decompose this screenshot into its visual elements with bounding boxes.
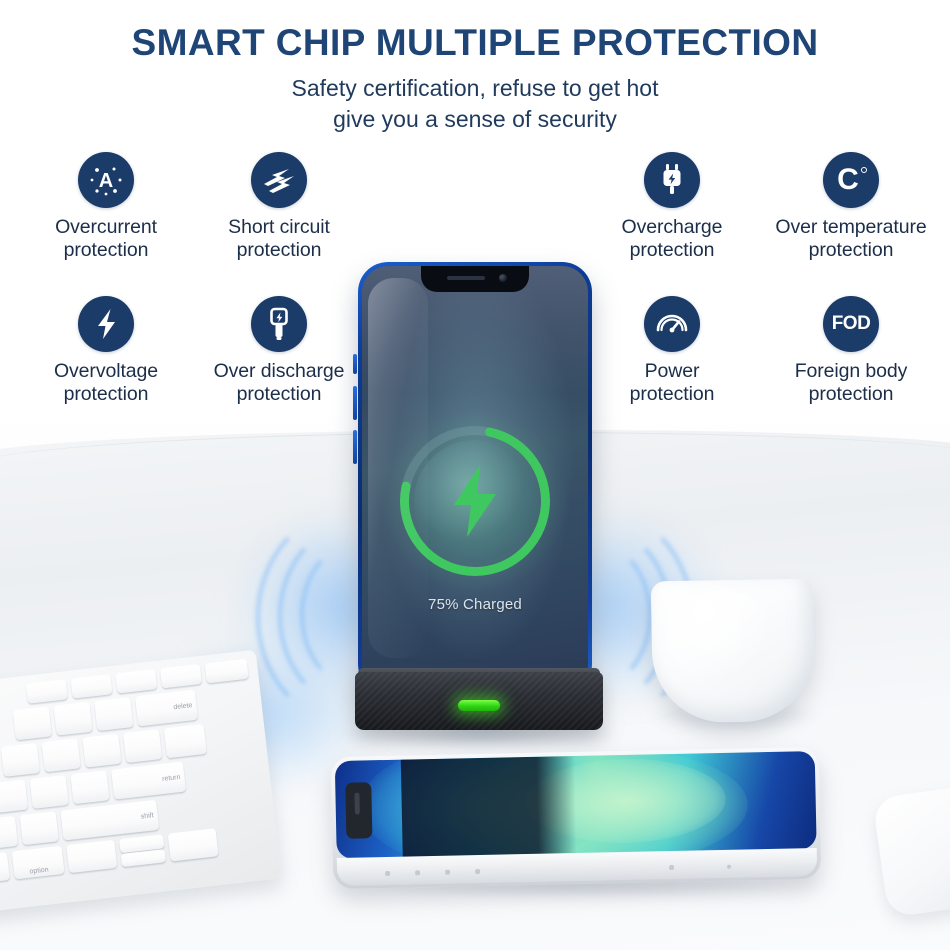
feature-label-line1: Overcharge xyxy=(622,216,723,238)
charging-led-indicator xyxy=(458,700,500,711)
phone-volume-down-button xyxy=(353,430,357,464)
fod-text-icon: FOD xyxy=(823,296,879,352)
flat-phone-screen xyxy=(335,751,817,859)
wireless-mouse xyxy=(651,579,815,724)
speaker-grill-hole xyxy=(385,871,390,876)
battery-bolt-icon xyxy=(251,296,307,352)
feature-label-line2: protection xyxy=(64,383,149,405)
charge-status-text: 75% Charged xyxy=(362,596,588,613)
celsius-letter: C xyxy=(837,165,859,195)
lightning-bolt-icon xyxy=(444,463,506,539)
feature-label-line1: Over discharge xyxy=(214,360,345,382)
feature-label: Overcurrent protection xyxy=(11,216,201,261)
feature-label-line2: protection xyxy=(237,383,322,405)
keyboard-key xyxy=(54,702,93,736)
keyboard-key xyxy=(70,770,109,804)
feature-power: Power protection xyxy=(577,296,767,405)
feature-label-line2: protection xyxy=(630,383,715,405)
bolt-icon xyxy=(78,296,134,352)
celsius-degree-icon: C xyxy=(823,152,879,208)
feature-over-temperature: C Over temperature protection xyxy=(753,152,949,261)
speaker-grill-hole xyxy=(475,869,480,874)
feature-label-line2: protection xyxy=(809,383,894,405)
page-title: SMART CHIP MULTIPLE PROTECTION xyxy=(0,24,950,63)
speaker-grill-hole xyxy=(445,870,450,875)
feature-label-line1: Short circuit xyxy=(228,216,330,238)
feature-label: Over temperature protection xyxy=(753,216,949,261)
screen-shadow-overlay xyxy=(401,756,577,858)
keyboard-key xyxy=(1,743,40,777)
keyboard-key xyxy=(82,734,121,768)
keyboard-key xyxy=(13,706,52,740)
keyboard-key-arrow-left xyxy=(66,840,117,873)
keyboard-key xyxy=(164,724,207,758)
header-block: SMART CHIP MULTIPLE PROTECTION Safety ce… xyxy=(0,0,950,134)
feature-label: Foreign body protection xyxy=(753,360,949,405)
mouse-highlight xyxy=(665,589,779,686)
stand-base xyxy=(355,672,603,730)
feature-label-line2: protection xyxy=(64,239,149,261)
feature-label-line2: protection xyxy=(630,239,715,261)
keyboard-key-l xyxy=(0,780,28,814)
feature-overcharge: Overcharge protection xyxy=(577,152,767,261)
lightning-zigzag-icon xyxy=(251,152,307,208)
speaker-grill-hole xyxy=(669,865,674,870)
feature-label: Over discharge protection xyxy=(184,360,374,405)
feature-short-circuit: Short circuit protection xyxy=(184,152,374,261)
feature-label-line1: Overcurrent xyxy=(55,216,157,238)
feature-label: Overvoltage protection xyxy=(11,360,201,405)
keyboard-key xyxy=(0,816,18,850)
keyboard-key-option: option xyxy=(12,846,65,879)
feature-overcurrent: A Overcurrent protection xyxy=(11,152,201,261)
subtitle-line-2: give you a sense of security xyxy=(0,104,950,135)
feature-label-line2: protection xyxy=(809,239,894,261)
flat-phone-notch xyxy=(345,782,372,839)
keyboard-key-arrow-right xyxy=(168,828,219,861)
plug-bolt-icon xyxy=(644,152,700,208)
keyboard-key xyxy=(123,729,162,763)
feature-label-line2: protection xyxy=(237,239,322,261)
current-a-icon: A xyxy=(78,152,134,208)
feature-overvoltage: Overvoltage protection xyxy=(11,296,201,405)
subtitle-line-1: Safety certification, refuse to get hot xyxy=(0,73,950,104)
feature-label-line1: Foreign body xyxy=(795,360,908,382)
feature-foreign-body: FOD Foreign body protection xyxy=(753,296,949,405)
keyboard-key-p xyxy=(42,738,81,772)
microphone-hole xyxy=(727,865,731,869)
gauge-icon xyxy=(644,296,700,352)
svg-text:A: A xyxy=(99,170,113,192)
feature-label: Overcharge protection xyxy=(577,216,767,261)
speaker-grill-hole xyxy=(415,870,420,875)
feature-label-line1: Power xyxy=(645,360,700,382)
charging-indicator xyxy=(400,426,550,576)
degree-symbol-icon xyxy=(861,167,867,173)
feature-label-line1: Over temperature xyxy=(775,216,926,238)
infographic-canvas: delete return shift option xyxy=(0,0,950,950)
feature-label: Power protection xyxy=(577,360,767,405)
keyboard-key xyxy=(20,811,59,845)
smartphone-lying-flat xyxy=(331,747,822,889)
feature-label: Short circuit protection xyxy=(184,216,374,261)
keyboard-key xyxy=(94,697,133,731)
keyboard-key xyxy=(30,775,69,809)
earpiece-speaker xyxy=(354,793,359,815)
feature-label-line1: Overvoltage xyxy=(54,360,158,382)
feature-over-discharge: Over discharge protection xyxy=(184,296,374,405)
fod-label: FOD xyxy=(832,313,871,335)
